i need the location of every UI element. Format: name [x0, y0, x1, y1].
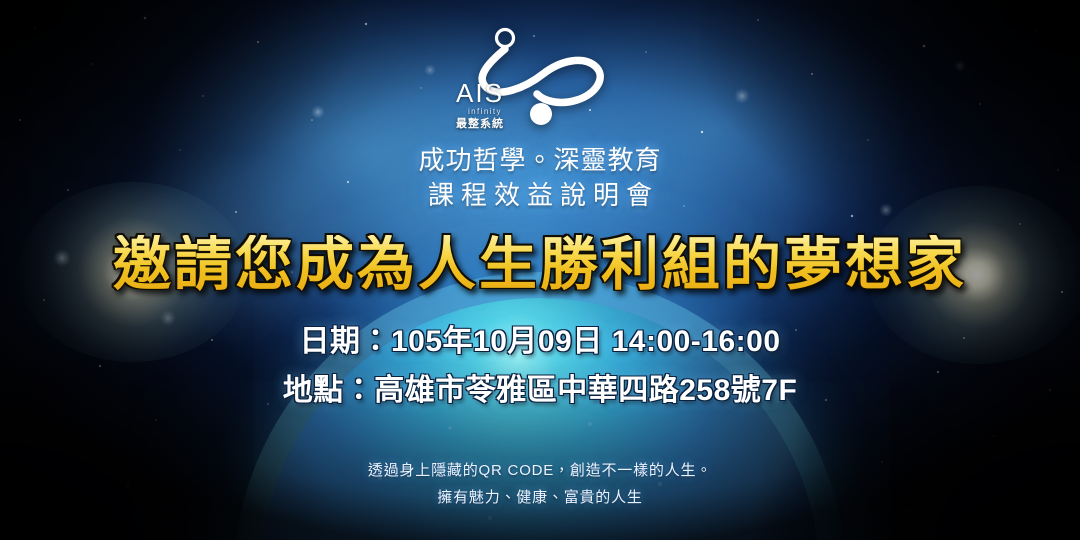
subtitle: 成功哲學。深靈教育 課程效益說明會	[418, 143, 661, 213]
footnote-line-2: 擁有魅力、健康、富貴的人生	[0, 484, 1080, 512]
subtitle-line-2: 課程效益說明會	[418, 178, 661, 213]
logo-infinity-text: infinity	[468, 108, 504, 116]
event-venue-line: 地點：高雄市苓雅區中華四路258號7F	[283, 367, 798, 416]
banner-content: AIS infinity 最整系統 成功哲學。深靈教育 課程效益說明會 邀請您成…	[0, 0, 1080, 540]
logo-chinese-name: 最整系統	[456, 119, 504, 130]
logo-ais-text: AIS	[456, 80, 504, 106]
footnote: 透過身上隱藏的QR CODE，創造不一樣的人生。 擁有魅力、健康、富貴的人生	[0, 457, 1080, 513]
headline: 邀請您成為人生勝利組的夢想家	[113, 235, 967, 296]
brand-logo: AIS infinity 最整系統	[450, 22, 630, 127]
subtitle-line-1: 成功哲學。深靈教育	[418, 143, 661, 178]
logo-wordmark-group: AIS infinity 最整系統	[456, 80, 504, 130]
event-banner: AIS infinity 最整系統 成功哲學。深靈教育 課程效益說明會 邀請您成…	[0, 0, 1080, 540]
event-details: 日期：105年10月09日 14:00-16:00 地點：高雄市苓雅區中華四路2…	[283, 318, 798, 415]
footnote-line-1: 透過身上隱藏的QR CODE，創造不一樣的人生。	[0, 457, 1080, 485]
event-date-line: 日期：105年10月09日 14:00-16:00	[283, 318, 798, 367]
